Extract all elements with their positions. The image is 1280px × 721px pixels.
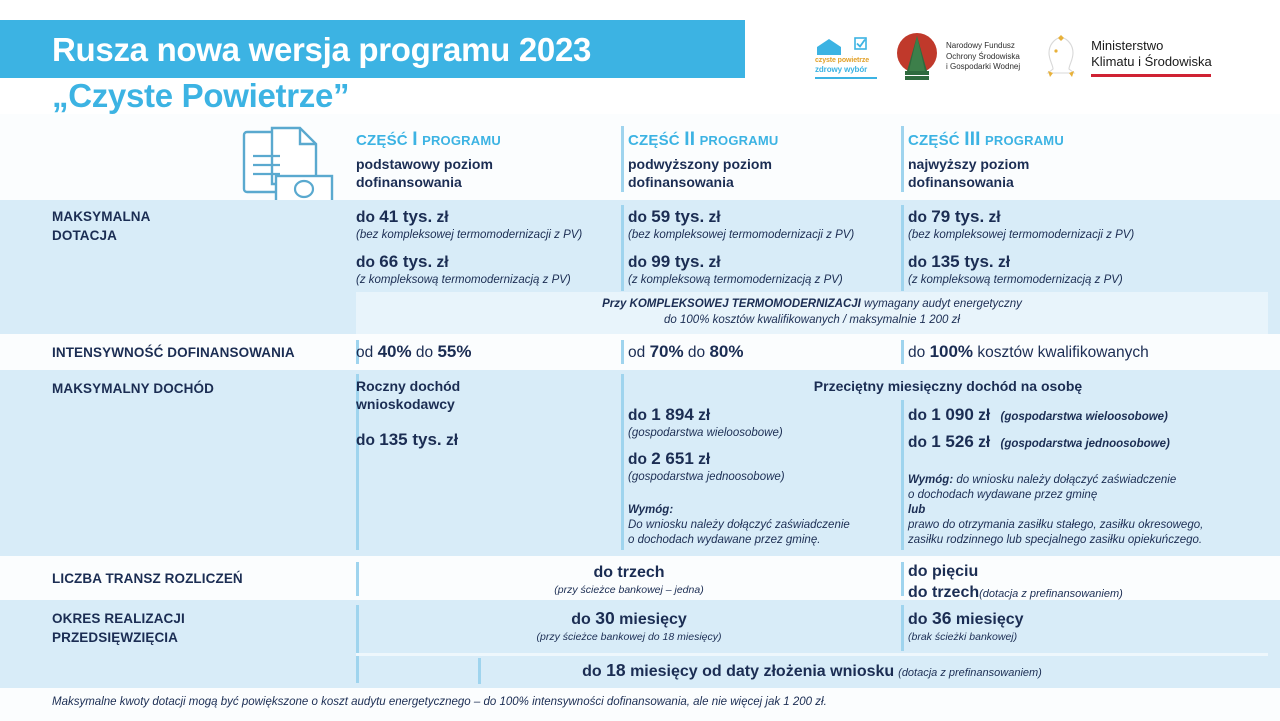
dochod-head-1a: Roczny dochód xyxy=(356,377,624,395)
cp-line1: czyste powietrze xyxy=(815,56,869,65)
kicker-numeral-3: III xyxy=(964,129,980,150)
ministerstwo-line2: Klimatu i Środowiska xyxy=(1091,54,1212,70)
nfosigw-line1: Narodowy Fundusz xyxy=(946,41,1020,52)
dotacja-cur-3a: zł xyxy=(989,209,1001,226)
dotacja-val-1b: 66 tys. xyxy=(379,252,432,271)
okres-span-pre: do xyxy=(571,611,591,628)
transze-col3-line1: do pięciu xyxy=(908,561,1268,582)
transze-col3-bold: do trzech xyxy=(908,584,979,601)
intensywnosc-value-3: do 100% kosztów kwalifikowanych xyxy=(908,342,1268,363)
dochod-req-3a: do wniosku należy dołączyć zaświadczenie xyxy=(953,474,1176,486)
polish-eagle-icon xyxy=(1038,31,1084,83)
dochod-req-3-line1: Wymóg: do wniosku należy dołączyć zaświa… xyxy=(908,473,1268,488)
dochod-req-2b: o dochodach wydawane przez gminę. xyxy=(628,533,904,548)
row-label-dochod: MAKSYMALNY DOCHÓD xyxy=(52,379,352,398)
dotacja-amount-1a: do 41 tys. zł xyxy=(356,206,624,228)
column-subtitle-3a: najwyższy poziom xyxy=(908,155,1268,173)
kicker-tail-2: PROGRAMU xyxy=(700,133,779,148)
kicker-numeral-2: II xyxy=(684,129,695,150)
dotacja-note-1b: (z kompleksową termomodernizacją z PV) xyxy=(356,273,624,288)
nfosigw-line3: i Gospodarki Wodnej xyxy=(946,62,1020,73)
okres-final-note: (dotacja z prefinansowaniem) xyxy=(898,667,1042,679)
dochod-span-heading: Przeciętny miesięczny dochód na osobę xyxy=(628,377,1268,396)
ministerstwo-line1: Ministerstwo xyxy=(1091,38,1212,54)
dochod-pre-3b: do xyxy=(908,434,927,451)
int-mid-2: do xyxy=(688,344,705,361)
okres-cell-3: do 36 miesięcy (brak ścieżki bankowej) xyxy=(908,608,1268,644)
dochod-head-1b: wnioskodawcy xyxy=(356,395,624,413)
dotacja-pre-1b: do xyxy=(356,254,375,271)
column-kicker-3: CZĘŚĆ III PROGRAMU xyxy=(908,130,1268,151)
house-icon xyxy=(815,36,877,56)
intensywnosc-cell-1: od 40% do 55% xyxy=(356,342,624,363)
okres-final-main: do 18 miesięcy od daty złożenia wniosku(… xyxy=(356,660,1268,684)
dotacja-pre-3b: do xyxy=(908,254,927,271)
dochod-note-2b: (gospodarstwa jednoosobowe) xyxy=(628,470,904,485)
dotacja-amount-3a: do 79 tys. zł xyxy=(908,206,1268,228)
dotacja-cur-1b: zł xyxy=(437,254,449,271)
dochod-req-3b: o dochodach wydawane przez gminę xyxy=(908,488,1268,503)
audit-line1-bold: Przy KOMPLEKSOWEJ TERMOMODERNIZACJI xyxy=(602,298,861,310)
okres-final-tail: miesięcy od daty złożenia wniosku xyxy=(630,663,894,680)
dochod-amount-1: do 135 tys. zł xyxy=(356,429,624,451)
dotacja-note-2b: (z kompleksową termomodernizacją z PV) xyxy=(628,273,904,288)
ministerstwo-rule xyxy=(1091,74,1211,77)
column-header-2: CZĘŚĆ II PROGRAMU podwyższony poziom dof… xyxy=(628,130,904,191)
dochod-req-2a: Do wniosku należy dołączyć zaświadczenie xyxy=(628,518,904,533)
logo-nfosigw: Narodowy Fundusz Ochrony Środowiska i Go… xyxy=(895,31,1020,83)
row-label-intensywnosc: INTENSYWNOŚĆ DOFINANSOWANIA xyxy=(52,343,352,362)
okres-span-note: (przy ścieżce bankowej do 18 miesięcy) xyxy=(360,630,898,644)
dochod-val-2a: 1 894 xyxy=(651,405,694,424)
dochod-val-2b: 2 651 xyxy=(651,449,694,468)
kicker-part-2: CZĘŚĆ xyxy=(628,132,680,149)
dotacja-cell-1: do 41 tys. zł (bez kompleksowej termomod… xyxy=(356,206,624,288)
column-subtitle-2a: podwyższony poziom xyxy=(628,155,904,173)
dochod-req-3-or: lub xyxy=(908,503,1268,518)
dochod-note-3b: (gospodarstwa jednoosobowe) xyxy=(1000,438,1169,450)
dotacja-cur-1a: zł xyxy=(437,209,449,226)
transze-span-main: do trzech xyxy=(360,562,898,583)
kicker-numeral-1: I xyxy=(412,129,417,150)
dochod-cur-2a: zł xyxy=(698,407,710,424)
okres-col3-pre: do xyxy=(908,611,928,628)
column-kicker-1: CZĘŚĆ I PROGRAMU xyxy=(356,130,624,151)
row-label-dotacja: MAKSYMALNA DOTACJA xyxy=(52,207,352,245)
dotacja-pre-2b: do xyxy=(628,254,647,271)
dotacja-val-3a: 79 tys. xyxy=(931,207,984,226)
kicker-tail-1: PROGRAMU xyxy=(422,133,501,148)
dochod-req-label-3: Wymóg: xyxy=(908,474,953,486)
audit-line1-rest: wymagany audyt energetyczny xyxy=(861,298,1022,310)
int-b-2: 80% xyxy=(709,342,743,361)
dochod-cell-1: Roczny dochód wnioskodawcy do 135 tys. z… xyxy=(356,377,624,451)
dochod-val-3b: 1 526 xyxy=(931,432,974,451)
infographic-page: Rusza nowa wersja programu 2023 „Czyste … xyxy=(0,0,1280,721)
dochod-cell-2: do 1 894 zł (gospodarstwa wieloosobowe) … xyxy=(628,404,904,548)
cp-line2: zdrowy wybór xyxy=(815,65,867,75)
audit-line1: Przy KOMPLEKSOWEJ TERMOMODERNIZACJI wyma… xyxy=(356,296,1268,312)
transze-span-cell: do trzech (przy ścieżce bankowej – jedna… xyxy=(360,562,898,597)
logo-group: czyste powietrze zdrowy wybór Narodowy F… xyxy=(795,22,1265,92)
dotacja-note-1a: (bez kompleksowej termomodernizacji z PV… xyxy=(356,228,624,243)
nfosigw-tree-icon xyxy=(895,31,939,83)
okres-final-pre: do xyxy=(582,663,602,680)
audit-note: Przy KOMPLEKSOWEJ TERMOMODERNIZACJI wyma… xyxy=(356,296,1268,328)
dotacja-pre-1a: do xyxy=(356,209,375,226)
okres-span-tail: miesięcy xyxy=(619,611,687,628)
row-label-transze: LICZBA TRANSZ ROZLICZEŃ xyxy=(52,569,352,588)
transze-cell-3: do pięciu do trzech(dotacja z prefinanso… xyxy=(908,561,1268,605)
okres-span-cell: do 30 miesięcy (przy ścieżce bankowej do… xyxy=(360,608,898,644)
logo-czyste-powietrze: czyste powietrze zdrowy wybór xyxy=(815,36,877,79)
row-label-dotacja-l2: DOTACJA xyxy=(52,226,352,245)
dotacja-cur-2a: zł xyxy=(709,209,721,226)
dochod-cur-3a: zł xyxy=(978,407,990,424)
dotacja-note-3a: (bez kompleksowej termomodernizacji z PV… xyxy=(908,228,1268,243)
kicker-part-1: CZĘŚĆ xyxy=(356,132,408,149)
transze-divider-0 xyxy=(356,562,359,596)
kicker-part-3: CZĘŚĆ xyxy=(908,132,960,149)
column-header-1: CZĘŚĆ I PROGRAMU podstawowy poziom dofin… xyxy=(356,130,624,191)
column-header-3: CZĘŚĆ III PROGRAMU najwyższy poziom dofi… xyxy=(908,130,1268,191)
dotacja-amount-3b: do 135 tys. zł xyxy=(908,251,1268,273)
int-pre-1: od xyxy=(356,344,373,361)
column-subtitle-1b: dofinansowania xyxy=(356,173,624,191)
header: Rusza nowa wersja programu 2023 „Czyste … xyxy=(0,0,1280,114)
row-label-okres-l1: OKRES REALIZACJI xyxy=(52,609,352,628)
okres-final-val: 18 xyxy=(606,660,625,680)
dochod-amount-3a: do 1 090 zł (gospodarstwa wieloosobowe) xyxy=(908,404,1268,426)
dochod-req-label-2: Wymóg: xyxy=(628,503,904,518)
dotacja-note-3b: (z kompleksową termomodernizacją z PV) xyxy=(908,273,1268,288)
okres-span-main: do 30 miesięcy xyxy=(360,608,898,630)
int-mid-1: do xyxy=(416,344,433,361)
column-subtitle-2b: dofinansowania xyxy=(628,173,904,191)
okres-col3-val: 36 xyxy=(932,608,951,628)
row-label-okres: OKRES REALIZACJI PRZEDSIĘWZIĘCIA xyxy=(52,609,352,647)
dochod-amount-2a: do 1 894 zł xyxy=(628,404,904,426)
okres-col3-note: (brak ścieżki bankowej) xyxy=(908,630,1268,644)
dotacja-amount-1b: do 66 tys. zł xyxy=(356,251,624,273)
page-title-line2: „Czyste Powietrze” xyxy=(52,76,752,116)
dochod-cur-3b: zł xyxy=(978,434,990,451)
dochod-note-2a: (gospodarstwa wieloosobowe) xyxy=(628,426,904,441)
intensywnosc-value-1: od 40% do 55% xyxy=(356,342,624,363)
dotacja-cell-2: do 59 tys. zł (bez kompleksowej termomod… xyxy=(628,206,904,288)
column-kicker-2: CZĘŚĆ II PROGRAMU xyxy=(628,130,904,151)
dotacja-amount-2b: do 99 tys. zł xyxy=(628,251,904,273)
transze-col3-note: (dotacja z prefinansowaniem) xyxy=(979,588,1123,600)
intensywnosc-cell-2: od 70% do 80% xyxy=(628,342,904,363)
okres-final-cell: do 18 miesięcy od daty złożenia wniosku(… xyxy=(356,660,1268,684)
dochod-amount-2b: do 2 651 zł xyxy=(628,448,904,470)
int-a-1: 40% xyxy=(378,342,412,361)
transze-span-note: (przy ścieżce bankowej – jedna) xyxy=(360,583,898,597)
dochod-amount-3b: do 1 526 zł (gospodarstwa jednoosobowe) xyxy=(908,431,1268,453)
intensywnosc-cell-3: do 100% kosztów kwalifikowanych xyxy=(908,342,1268,363)
int-a-3: 100% xyxy=(930,342,973,361)
row-label-okres-l2: PRZEDSIĘWZIĘCIA xyxy=(52,628,352,647)
kicker-tail-3: PROGRAMU xyxy=(985,133,1064,148)
dotacja-val-2b: 99 tys. xyxy=(651,252,704,271)
dochod-pre-3a: do xyxy=(908,407,927,424)
dotacja-cur-3b: zł xyxy=(998,254,1010,271)
dochod-val-1: 135 tys. xyxy=(379,430,441,449)
column-subtitle-1a: podstawowy poziom xyxy=(356,155,624,173)
document-money-icon xyxy=(238,126,342,208)
dochod-pre-1: do xyxy=(356,432,375,449)
dochod-val-3a: 1 090 xyxy=(931,405,974,424)
column-subtitle-3b: dofinansowania xyxy=(908,173,1268,191)
dotacja-cell-3: do 79 tys. zł (bez kompleksowej termomod… xyxy=(908,206,1268,288)
dotacja-note-2a: (bez kompleksowej termomodernizacji z PV… xyxy=(628,228,904,243)
dochod-cur-1: zł xyxy=(446,432,458,449)
okres-span-val: 30 xyxy=(595,608,614,628)
dochod-pre-2b: do xyxy=(628,451,647,468)
okres-divider-1 xyxy=(901,605,904,651)
dotacja-cur-2b: zł xyxy=(709,254,721,271)
dochod-cur-2b: zł xyxy=(698,451,710,468)
logo-ministerstwo: Ministerstwo Klimatu i Środowiska xyxy=(1038,31,1212,83)
nfosigw-line2: Ochrony Środowiska xyxy=(946,52,1020,63)
row-label-dotacja-l1: MAKSYMALNA xyxy=(52,207,352,226)
dotacja-amount-2a: do 59 tys. zł xyxy=(628,206,904,228)
dotacja-val-3b: 135 tys. xyxy=(931,252,993,271)
okres-col3-main: do 36 miesięcy xyxy=(908,608,1268,630)
dotacja-val-2a: 59 tys. xyxy=(651,207,704,226)
dochod-note-3a: (gospodarstwa wieloosobowe) xyxy=(1000,411,1167,423)
dochod-req-3c: prawo do otrzymania zasiłku stałego, zas… xyxy=(908,518,1268,533)
dotacja-val-1a: 41 tys. xyxy=(379,207,432,226)
audit-line2: do 100% kosztów kwalifikowanych / maksym… xyxy=(356,312,1268,328)
int-tail-3: kosztów kwalifikowanych xyxy=(977,344,1148,361)
dochod-req-3d: zasiłku rodzinnego lub specjalnego zasił… xyxy=(908,533,1268,548)
dochod-pre-2a: do xyxy=(628,407,647,424)
int-pre-3: do xyxy=(908,344,925,361)
dotacja-pre-2a: do xyxy=(628,209,647,226)
okres-col3-tail: miesięcy xyxy=(956,611,1024,628)
intensywnosc-value-2: od 70% do 80% xyxy=(628,342,904,363)
transze-divider-1 xyxy=(901,562,904,596)
dochod-cell-3: do 1 090 zł (gospodarstwa wieloosobowe) … xyxy=(908,404,1268,548)
dotacja-pre-3a: do xyxy=(908,209,927,226)
int-a-2: 70% xyxy=(650,342,684,361)
okres-horizontal-rule xyxy=(356,653,1268,656)
int-pre-2: od xyxy=(628,344,645,361)
page-title-line1: Rusza nowa wersja programu 2023 xyxy=(52,27,752,73)
footer-note: Maksymalne kwoty dotacji mogą być powięk… xyxy=(52,694,1232,710)
cp-rule xyxy=(815,77,877,79)
int-b-1: 55% xyxy=(437,342,471,361)
